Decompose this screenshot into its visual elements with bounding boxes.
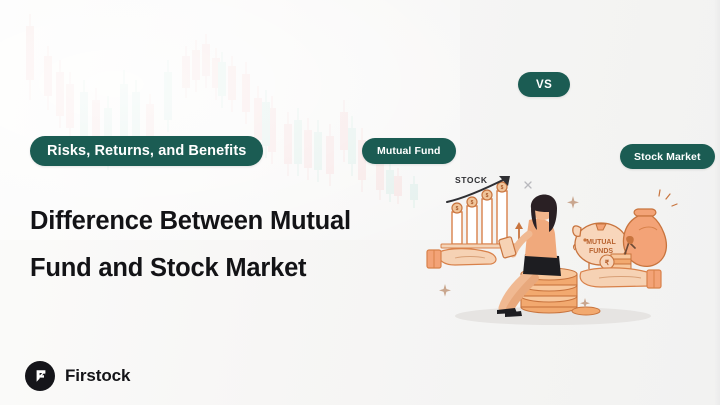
brand-name: Firstock	[65, 366, 130, 386]
blog-banner: $ $ $ $ STOCK	[0, 0, 720, 405]
page-title-line-2: Fund and Stock Market	[30, 254, 306, 282]
stock-market-badge-label: Stock Market	[634, 151, 701, 163]
stock-label: STOCK	[455, 175, 488, 185]
kicker-badge-label: Risks, Returns, and Benefits	[47, 143, 246, 159]
tablet	[498, 236, 516, 258]
mutual-funds-group: MUTUAL FUNDS	[573, 190, 677, 288]
svg-text:$: $	[486, 193, 489, 199]
right-hand	[580, 268, 661, 288]
svg-text:$: $	[456, 206, 459, 212]
svg-text:$: $	[471, 200, 474, 206]
page-title-line-1: Difference Between Mutual	[30, 207, 351, 235]
finance-illustration: $ $ $ $ STOCK	[425, 168, 680, 333]
vs-badge-label: VS	[536, 79, 552, 91]
sparkle-lines	[659, 190, 677, 206]
brand-logo[interactable]: Firstock	[25, 361, 130, 391]
vs-badge: VS	[518, 72, 570, 97]
stock-market-badge: Stock Market	[620, 144, 715, 169]
kicker-badge: Risks, Returns, and Benefits	[30, 136, 263, 166]
mutual-fund-badge: Mutual Fund	[362, 138, 456, 164]
piggy-label-line1: MUTUAL	[586, 239, 616, 246]
left-hand	[427, 249, 496, 268]
sparkle-cross-icon	[522, 182, 534, 188]
firstock-arrow-icon	[25, 361, 55, 391]
mutual-fund-badge-label: Mutual Fund	[377, 145, 441, 157]
background-right-edge	[714, 0, 720, 405]
svg-text:₹: ₹	[605, 259, 610, 267]
svg-text:$: $	[501, 185, 504, 191]
page-title: Difference Between Mutual Fund and Stock…	[30, 198, 430, 292]
piggy-label-line2: FUNDS	[589, 248, 613, 255]
